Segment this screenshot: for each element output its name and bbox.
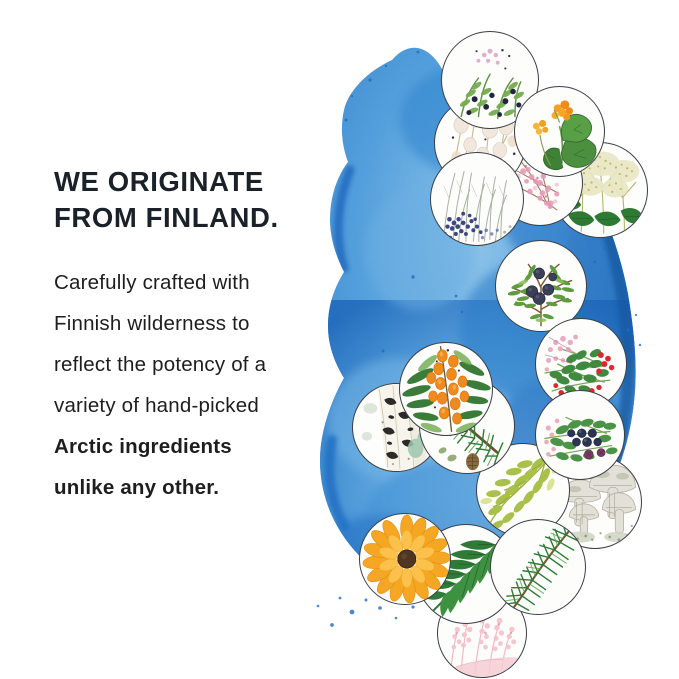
body-line-5-emphasis: Arctic ingredients	[54, 426, 354, 467]
body-line-1: Carefully crafted with	[54, 262, 354, 303]
ingredient-circle-bilberry	[535, 390, 625, 480]
body-line-2: Finnish wilderness to	[54, 303, 354, 344]
poster-canvas: WE ORIGINATE FROM FINLAND. Carefully cra…	[0, 0, 679, 679]
body-line-4: variety of hand-picked	[54, 385, 354, 426]
body-line-6-emphasis: unlike any other.	[54, 467, 354, 508]
headline-line-2: FROM FINLAND.	[54, 200, 354, 236]
headline-line-1: WE ORIGINATE	[54, 164, 354, 200]
ingredient-circle-seabuckthorn	[399, 342, 493, 436]
ingredient-circle-cloudberry	[514, 86, 605, 177]
ingredient-circle-wildgrass	[430, 152, 524, 246]
copy-block: WE ORIGINATE FROM FINLAND. Carefully cra…	[54, 164, 354, 508]
page-title: WE ORIGINATE FROM FINLAND.	[54, 164, 354, 236]
body-line-3: reflect the potency of a	[54, 344, 354, 385]
ingredient-circle-sprucetwig	[490, 519, 586, 615]
body-copy: Carefully crafted with Finnish wildernes…	[54, 262, 354, 508]
ingredient-circle-calendula	[359, 513, 451, 605]
